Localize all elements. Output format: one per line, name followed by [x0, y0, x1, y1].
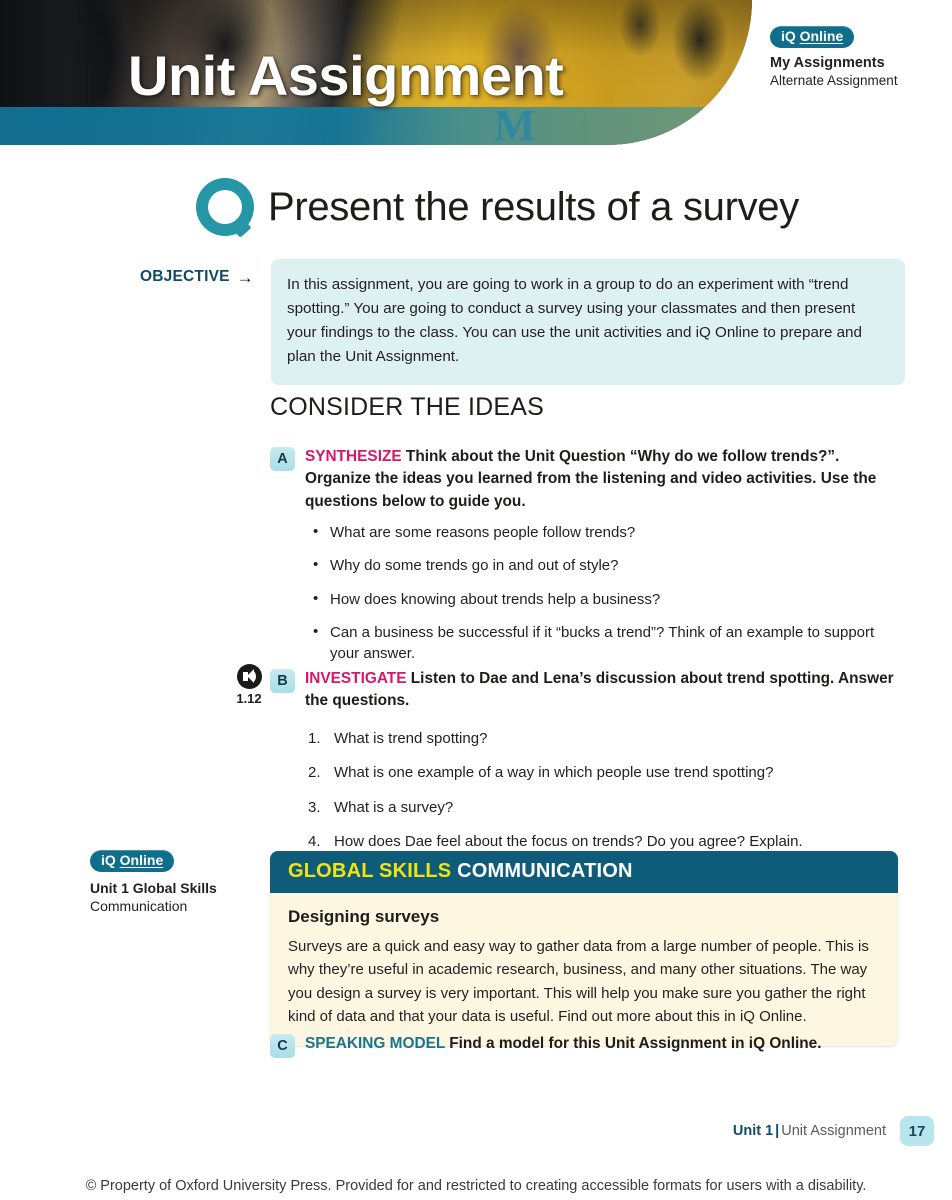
audio-track-block[interactable]: 1.12 — [228, 664, 270, 706]
hero-banner: M Unit Assignment — [0, 0, 752, 145]
global-skills-header-secondary: COMMUNICATION — [457, 860, 633, 882]
activity-c: C SPEAKING MODEL Find a model for this U… — [270, 1033, 900, 1058]
list-item-number: 4. — [308, 831, 328, 852]
footer-separator: | — [773, 1123, 781, 1139]
activity-c-text: SPEAKING MODEL Find a model for this Uni… — [305, 1033, 822, 1055]
iq-online-badge-label: Online — [800, 28, 844, 44]
activity-b-question-list: 1.What is trend spotting? 2.What is one … — [308, 728, 898, 865]
objective-label: OBJECTIVE — [140, 268, 230, 286]
iq-online-badge-prefix: iQ — [781, 28, 800, 44]
iq-online-badge-prefix: iQ — [101, 852, 120, 868]
iq-online-badge[interactable]: iQ Online — [770, 26, 854, 48]
list-item-number: 2. — [308, 762, 328, 783]
activity-a: A SYNTHESIZE Think about the Unit Questi… — [270, 446, 900, 513]
list-item-number: 1. — [308, 728, 328, 749]
hero-teal-band — [0, 107, 752, 145]
activity-a-keyword: SYNTHESIZE — [305, 448, 402, 465]
activity-b-keyword: INVESTIGATE — [305, 670, 406, 687]
activity-letter-badge-a: A — [270, 447, 295, 471]
global-skills-subtitle: Designing surveys — [288, 907, 878, 927]
hero-side-panel: iQ Online My Assignments Alternate Assig… — [770, 26, 952, 88]
list-item-text: What is one example of a way in which pe… — [334, 764, 773, 781]
list-item-text: What is a survey? — [334, 799, 453, 816]
iq-online-badge-label: Online — [120, 852, 164, 868]
arrow-right-icon: → — [237, 269, 254, 286]
objective-label-group: OBJECTIVE → — [140, 268, 254, 286]
footer-breadcrumb: Unit 1|Unit Assignment — [733, 1123, 886, 1139]
activity-a-bullet-list: What are some reasons people follow tren… — [310, 522, 900, 676]
global-skills-header: GLOBAL SKILLS COMMUNICATION — [270, 851, 898, 893]
page-footer: Unit 1|Unit Assignment 17 — [733, 1116, 934, 1146]
assignment-title: Present the results of a survey — [268, 185, 799, 230]
list-item: Why do some trends go in and out of styl… — [310, 555, 900, 576]
global-skills-header-primary: GLOBAL SKILLS — [288, 860, 451, 882]
global-skills-side-topic: Communication — [90, 898, 270, 914]
assignment-title-row: Present the results of a survey — [196, 178, 799, 236]
list-item: What are some reasons people follow tren… — [310, 522, 900, 543]
alternate-assignment-label: Alternate Assignment — [770, 73, 952, 88]
activity-letter-badge-b: B — [270, 669, 295, 693]
q-circle-inner — [208, 190, 242, 224]
copyright-notice: © Property of Oxford University Press. P… — [0, 1178, 952, 1194]
list-item: How does knowing about trends help a bus… — [310, 589, 900, 610]
list-item-text: What is trend spotting? — [334, 730, 487, 747]
iq-online-badge-global-skills[interactable]: iQ Online — [90, 850, 174, 872]
list-item: 3.What is a survey? — [308, 797, 898, 818]
footer-section: Unit Assignment — [781, 1123, 886, 1139]
activity-b-text: INVESTIGATE Listen to Dae and Lena’s dis… — [305, 668, 900, 713]
activity-c-keyword: SPEAKING MODEL — [305, 1035, 445, 1052]
list-item: 4.How does Dae feel about the focus on t… — [308, 831, 898, 852]
page-number-badge: 17 — [900, 1116, 934, 1146]
global-skills-side-unit: Unit 1 Global Skills — [90, 880, 270, 896]
global-skills-side-panel: iQ Online Unit 1 Global Skills Communica… — [90, 850, 270, 914]
footer-unit: Unit 1 — [733, 1123, 773, 1139]
activity-c-instruction: Find a model for this Unit Assignment in… — [449, 1035, 821, 1052]
q-circle-icon — [196, 178, 254, 236]
activity-a-text: SYNTHESIZE Think about the Unit Question… — [305, 446, 900, 513]
audio-track-number: 1.12 — [228, 691, 270, 706]
objective-box: In this assignment, you are going to wor… — [271, 259, 905, 385]
list-item: 2.What is one example of a way in which … — [308, 762, 898, 783]
list-item: Can a business be successful if it “buck… — [310, 622, 900, 665]
list-item: 1.What is trend spotting? — [308, 728, 898, 749]
activity-letter-badge-c: C — [270, 1034, 295, 1058]
page-title: Unit Assignment — [128, 48, 563, 104]
global-skills-box: GLOBAL SKILLS COMMUNICATION Designing su… — [270, 851, 898, 1046]
audio-waves-icon — [249, 671, 256, 682]
audio-speaker-icon[interactable] — [237, 664, 262, 689]
global-skills-body: Designing surveys Surveys are a quick an… — [270, 893, 898, 1046]
section-heading: CONSIDER THE IDEAS — [270, 393, 544, 422]
list-item-text: How does Dae feel about the focus on tre… — [334, 833, 803, 850]
list-item-number: 3. — [308, 797, 328, 818]
activity-b: B INVESTIGATE Listen to Dae and Lena’s d… — [270, 668, 900, 713]
global-skills-text: Surveys are a quick and easy way to gath… — [288, 935, 878, 1028]
my-assignments-label: My Assignments — [770, 55, 952, 71]
